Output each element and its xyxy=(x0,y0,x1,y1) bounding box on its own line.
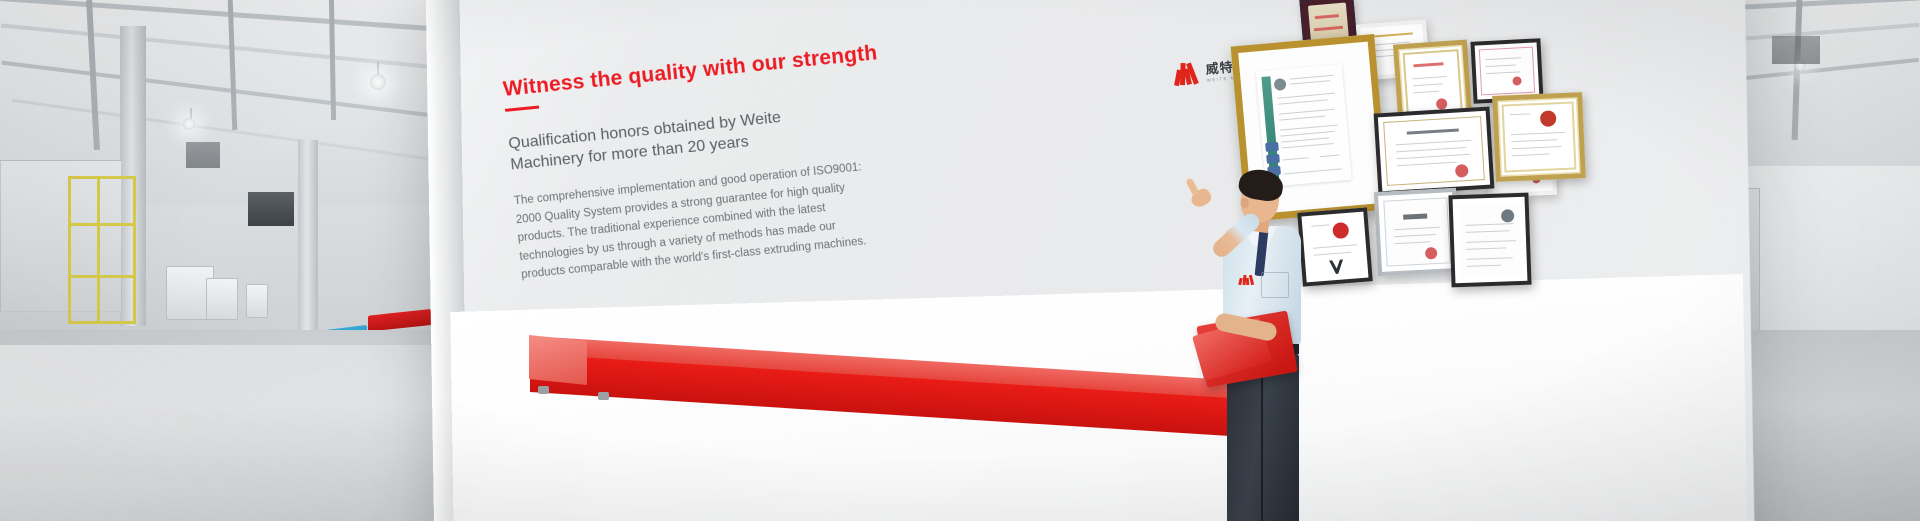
window-opening xyxy=(186,142,220,168)
red-machine-base xyxy=(530,336,1230,456)
cert-text-line xyxy=(1277,93,1335,99)
certificate-frame xyxy=(1297,207,1373,286)
cert-text-line xyxy=(1369,32,1413,37)
equipment-crate xyxy=(246,284,268,318)
structural-pillar xyxy=(298,140,318,330)
ceiling-lamp-icon xyxy=(370,74,386,90)
ceiling-lamp-icon xyxy=(183,118,195,130)
base-foot xyxy=(538,386,549,394)
certificate-frame xyxy=(1374,188,1460,276)
window-opening xyxy=(248,192,294,226)
cert-text-line xyxy=(1313,244,1357,248)
award-badge-icon xyxy=(1332,222,1349,239)
cert-text-line xyxy=(1282,143,1334,149)
shirt-pocket xyxy=(1261,272,1289,298)
cert-text-line xyxy=(1280,125,1338,131)
window-opening xyxy=(1772,36,1820,64)
cert-text-line xyxy=(1281,131,1335,137)
accreditation-mark-icon xyxy=(1266,154,1280,164)
person-ear xyxy=(1241,198,1249,208)
certification-emblem-icon xyxy=(1274,78,1287,91)
staff-member-pointing xyxy=(1195,168,1305,521)
person-leg-seam xyxy=(1261,378,1263,521)
hero-banner: Witness the quality with our strength Qu… xyxy=(0,0,1920,521)
accreditation-mark-icon xyxy=(1265,142,1279,152)
cert-text-line xyxy=(1320,155,1340,158)
certificate-frame xyxy=(1374,107,1495,196)
cert-text-line xyxy=(1311,224,1329,226)
cert-text-line xyxy=(1279,109,1335,115)
certificate-frame xyxy=(1448,193,1531,288)
cert-text-line xyxy=(1283,157,1309,160)
cert-text-line xyxy=(1290,75,1334,80)
w-mark-icon xyxy=(1239,274,1253,285)
equipment-crate xyxy=(206,278,238,320)
base-end-cap xyxy=(529,335,587,385)
yellow-scaffold xyxy=(68,176,136,324)
cert-text-line xyxy=(1290,80,1330,84)
cert-text-line xyxy=(1279,116,1325,121)
cert-text-line xyxy=(1314,252,1352,256)
title-underline-rule xyxy=(505,105,539,111)
cert-text-line xyxy=(1281,137,1329,142)
cert-text-line xyxy=(1278,99,1328,104)
certificate-frame xyxy=(1492,92,1586,182)
certificate-wall xyxy=(830,0,1250,302)
base-foot xyxy=(598,392,609,400)
panel-subheading: Qualification honors obtained by Weite M… xyxy=(507,104,810,176)
